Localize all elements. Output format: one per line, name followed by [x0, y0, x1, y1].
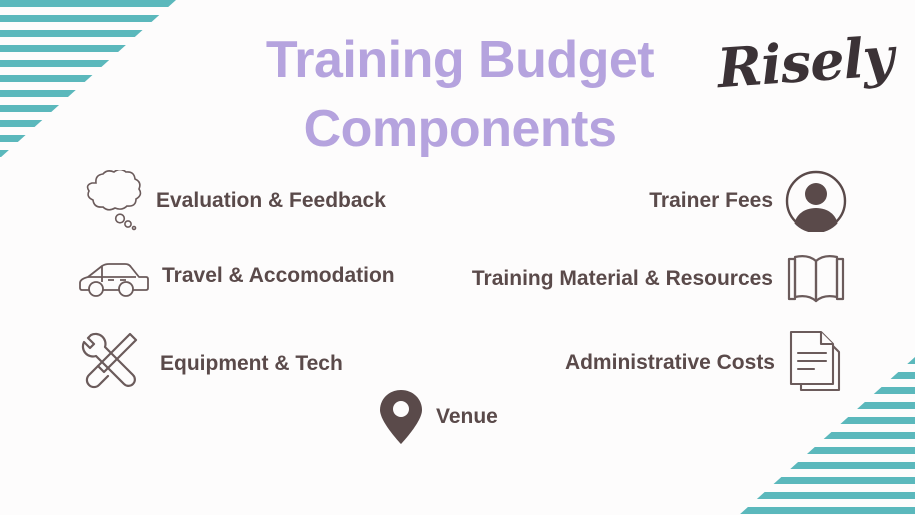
documents-icon	[787, 330, 845, 396]
map-pin-icon	[378, 388, 424, 446]
list-item-label: Equipment & Tech	[160, 352, 343, 376]
thought-bubble-icon	[80, 170, 144, 232]
car-icon	[78, 251, 150, 301]
list-item-travel-accomodation: Travel & Accomodation	[78, 251, 395, 301]
page-title: Training Budget Components	[140, 26, 780, 163]
slide-canvas: Training Budget Components Risely Evalua…	[0, 0, 915, 515]
list-item-label: Travel & Accomodation	[162, 264, 395, 288]
list-item-label: Venue	[436, 405, 498, 429]
list-item-evaluation-feedback: Evaluation & Feedback	[80, 170, 386, 232]
wrench-screwdriver-icon	[76, 330, 148, 398]
list-item-label: Evaluation & Feedback	[156, 189, 386, 213]
list-item-label: Trainer Fees	[649, 189, 773, 213]
open-book-icon	[785, 251, 847, 307]
list-item-label: Administrative Costs	[565, 351, 775, 375]
list-item-training-material: Training Material & Resources	[472, 251, 847, 307]
list-item-venue: Venue	[378, 388, 498, 446]
list-item-administrative-costs: Administrative Costs	[565, 330, 845, 396]
risely-logo: Risely	[715, 24, 895, 100]
list-item-equipment-tech: Equipment & Tech	[76, 330, 343, 398]
list-item-trainer-fees: Trainer Fees	[649, 170, 847, 232]
person-avatar-icon	[785, 170, 847, 232]
list-item-label: Training Material & Resources	[472, 267, 773, 291]
